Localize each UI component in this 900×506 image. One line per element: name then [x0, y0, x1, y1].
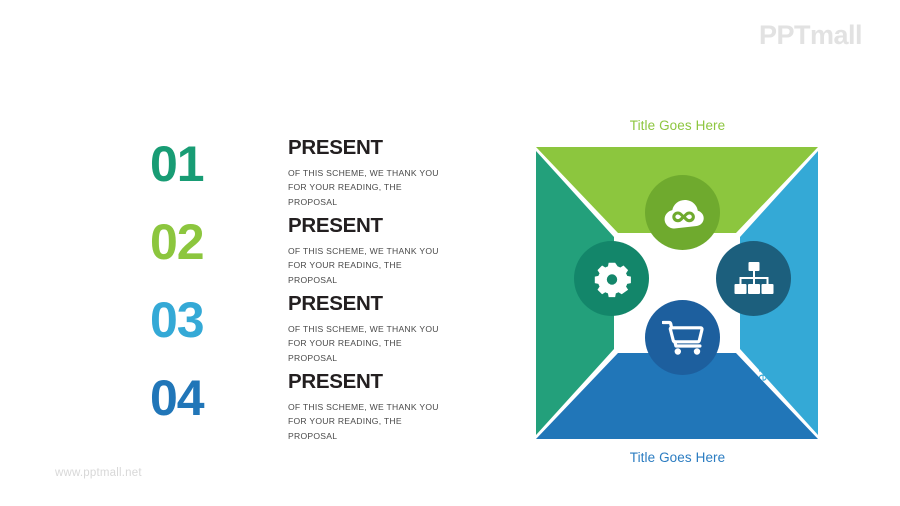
org-chart-icon[interactable]	[716, 241, 791, 316]
list-item: 03 PRESENT OF THIS SCHEME, WE THANK YOU …	[150, 293, 440, 371]
gear-icon[interactable]	[574, 241, 649, 316]
diagram-label-top: Title Goes Here	[505, 118, 850, 133]
logo-text-suffix: mall	[810, 20, 862, 50]
step-description: OF THIS SCHEME, WE THANK YOU FOR YOUR RE…	[288, 400, 443, 444]
step-title: PRESENT	[288, 137, 443, 160]
step-content: PRESENT OF THIS SCHEME, WE THANK YOU FOR…	[288, 215, 443, 288]
pptmall-logo: PPTmall	[759, 20, 862, 51]
diagram-label-bottom: Title Goes Here	[505, 450, 850, 465]
step-content: PRESENT OF THIS SCHEME, WE THANK YOU FOR…	[288, 293, 443, 366]
slide-canvas: PPTmall 01 PRESENT OF THIS SCHEME, WE TH…	[0, 0, 900, 506]
list-item: 01 PRESENT OF THIS SCHEME, WE THANK YOU …	[150, 137, 440, 215]
perspective-diagram: Title Goes Here Title Goes Here Title Go…	[505, 118, 850, 478]
step-content: PRESENT OF THIS SCHEME, WE THANK YOU FOR…	[288, 137, 443, 210]
list-item: 02 PRESENT OF THIS SCHEME, WE THANK YOU …	[150, 215, 440, 293]
step-number: 02	[150, 217, 255, 267]
cloud-infinity-icon[interactable]	[645, 175, 720, 250]
shopping-cart-icon[interactable]	[645, 300, 720, 375]
step-title: PRESENT	[288, 293, 443, 316]
logo-text-prefix: PPT	[759, 20, 810, 50]
step-description: OF THIS SCHEME, WE THANK YOU FOR YOUR RE…	[288, 244, 443, 288]
step-title: PRESENT	[288, 215, 443, 238]
step-number: 01	[150, 139, 255, 189]
footer-url: www.pptmall.net	[55, 467, 142, 479]
list-item: 04 PRESENT OF THIS SCHEME, WE THANK YOU …	[150, 371, 440, 449]
step-title: PRESENT	[288, 371, 443, 394]
steps-list: 01 PRESENT OF THIS SCHEME, WE THANK YOU …	[150, 137, 440, 449]
step-description: OF THIS SCHEME, WE THANK YOU FOR YOUR RE…	[288, 322, 443, 366]
step-number: 04	[150, 373, 255, 423]
step-description: OF THIS SCHEME, WE THANK YOU FOR YOUR RE…	[288, 166, 443, 210]
step-content: PRESENT OF THIS SCHEME, WE THANK YOU FOR…	[288, 371, 443, 444]
step-number: 03	[150, 295, 255, 345]
